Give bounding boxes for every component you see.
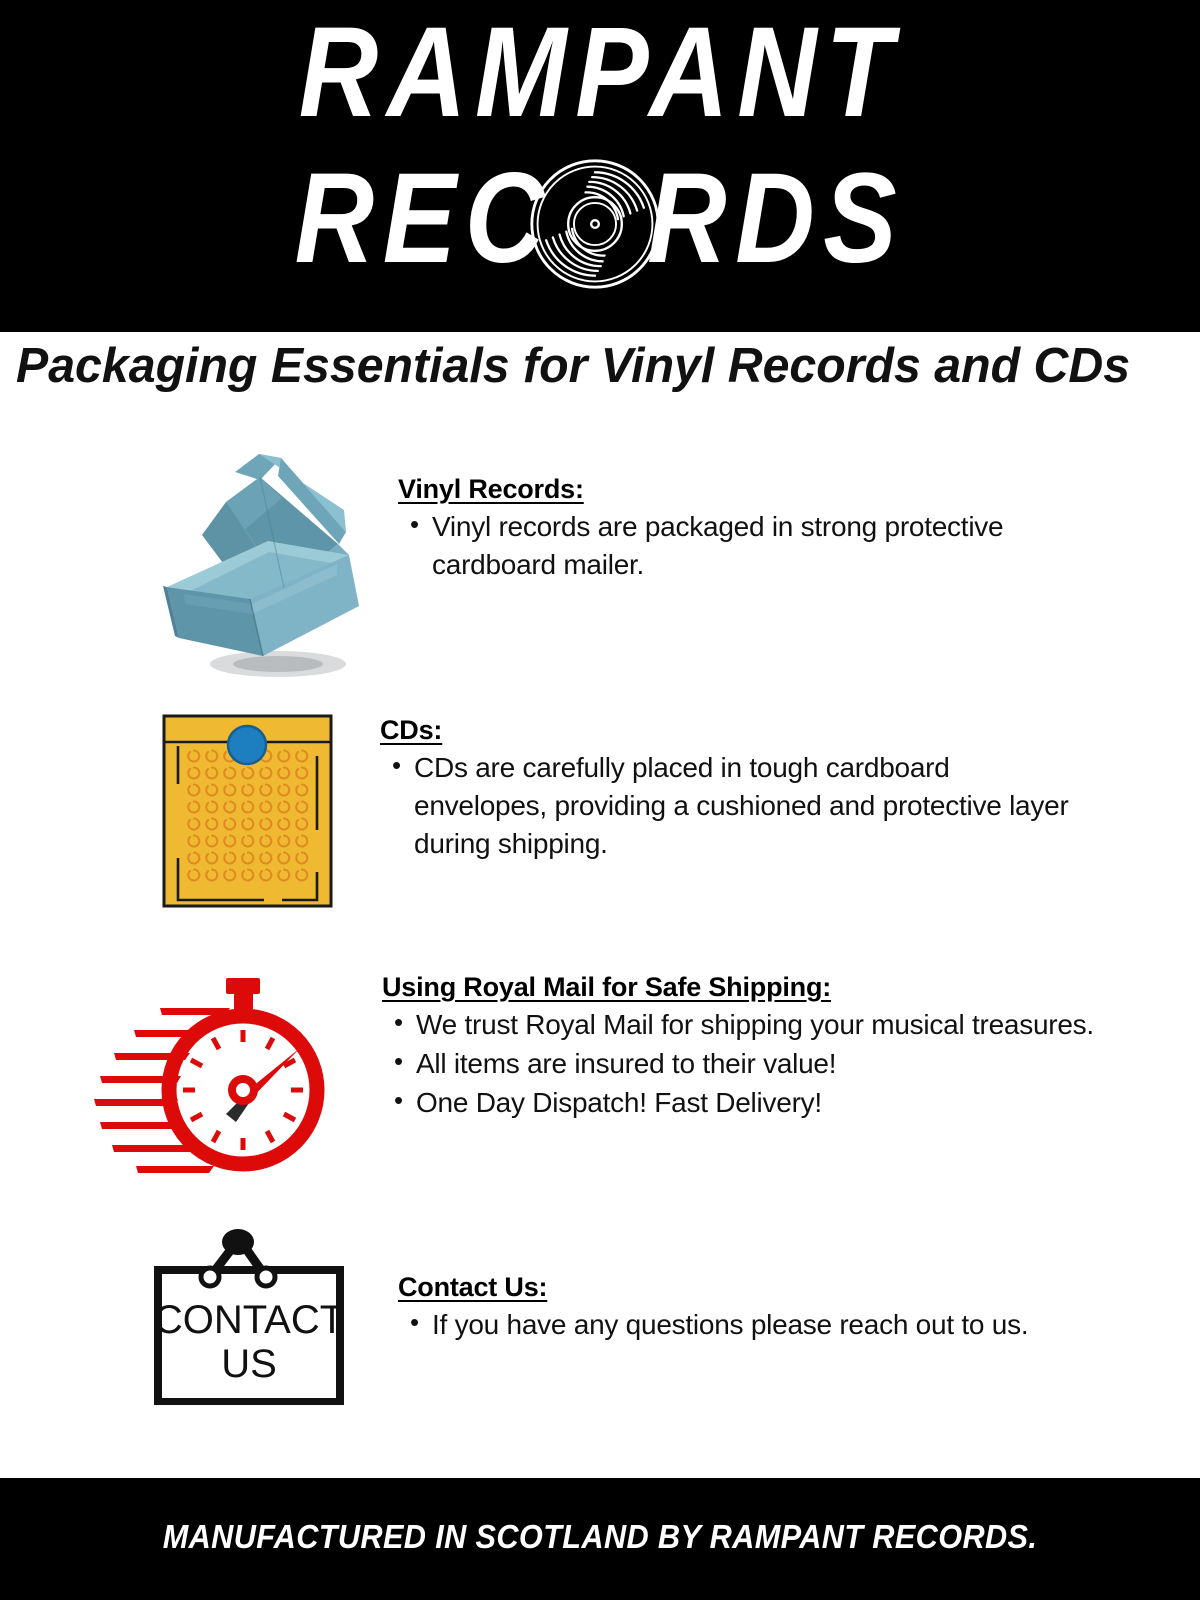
sign-label-line2: US <box>221 1342 277 1386</box>
section-royal-text: Using Royal Mail for Safe Shipping: We t… <box>382 972 1102 1123</box>
cardboard-mailer-box-icon <box>132 436 382 686</box>
contact-us-hanging-sign-icon: CONTACT US <box>150 1225 350 1405</box>
section-heading-royal: Using Royal Mail for Safe Shipping: <box>382 972 831 1003</box>
bullet-list-contact: If you have any questions please reach o… <box>398 1306 1118 1344</box>
logo-rec-text: REC <box>295 147 553 290</box>
padded-bubble-envelope-icon <box>160 712 335 910</box>
sign-label-line1: CONTACT <box>154 1298 344 1342</box>
fast-stopwatch-icon <box>78 960 348 1185</box>
list-item: We trust Royal Mail for shipping your mu… <box>382 1006 1102 1044</box>
logo-line-one: RAMPANT <box>84 6 1116 140</box>
section-vinyl-text: Vinyl Records: Vinyl records are package… <box>398 474 1118 585</box>
section-heading-contact: Contact Us: <box>398 1272 547 1303</box>
list-item: CDs are carefully placed in tough cardbo… <box>380 749 1074 863</box>
section-contact-text: Contact Us: If you have any questions pl… <box>398 1272 1118 1345</box>
cd-disc-shape <box>228 726 266 764</box>
list-item: Vinyl records are packaged in strong pro… <box>398 508 1118 584</box>
footer-text: MANUFACTURED IN SCOTLAND BY RAMPANT RECO… <box>42 1518 1158 1556</box>
bullet-list-vinyl: Vinyl records are packaged in strong pro… <box>398 508 1118 584</box>
footer-banner: MANUFACTURED IN SCOTLAND BY RAMPANT RECO… <box>0 1478 1200 1600</box>
bullet-list-royal: We trust Royal Mail for shipping your mu… <box>382 1006 1102 1122</box>
section-heading-vinyl: Vinyl Records: <box>398 474 584 505</box>
bullet-list-cds: CDs are carefully placed in tough cardbo… <box>380 749 1100 863</box>
list-item: One Day Dispatch! Fast Delivery! <box>382 1084 1102 1122</box>
logo-rds-text: RDS <box>647 147 905 290</box>
brand-logo: RAMPANT RECORDS <box>0 0 1200 332</box>
vinyl-record-icon <box>528 157 662 291</box>
section-heading-cds: CDs: <box>380 715 442 746</box>
page-subtitle: Packaging Essentials for Vinyl Records a… <box>16 338 1173 394</box>
section-cds-text: CDs: CDs are carefully placed in tough c… <box>380 715 1100 864</box>
list-item: All items are insured to their value! <box>382 1045 1102 1083</box>
header-banner: RAMPANT RECORDS <box>0 0 1200 332</box>
list-item: If you have any questions please reach o… <box>398 1306 1118 1344</box>
